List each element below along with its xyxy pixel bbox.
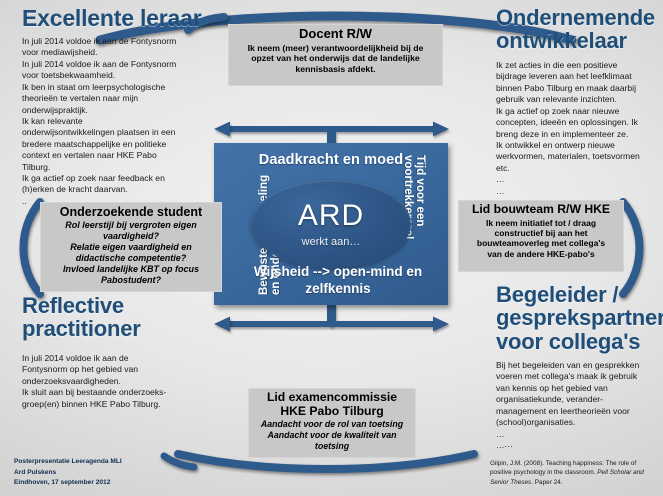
footer-line-1: Posterpresentatie Leeragenda MLI <box>14 457 122 467</box>
citation-block: Gilpin, J.M. (2008). Teaching happiness:… <box>490 459 655 487</box>
callout-line: van de andere HKE-pabo's <box>463 249 619 259</box>
body-line: voor toetsbekwaamheid. <box>22 70 198 81</box>
callout-body: Ik neem initiatief tot / draag construct… <box>463 218 619 259</box>
body-line: … <box>496 186 660 197</box>
body-line: organisatiekunde, verander- <box>496 394 662 405</box>
callout-line: Invloed landelijke KBT op focus Pabostud… <box>45 264 217 286</box>
callout-lid-examencommissie: Lid examencommissie HKE Pabo Tilburg Aan… <box>248 388 416 458</box>
body-line: bredere maatschappelijke en politieke <box>22 139 198 150</box>
callout-title: Lid examencommissie HKE Pabo Tilburg <box>253 391 411 418</box>
footer-line-2: Ard Pulskens <box>14 468 122 478</box>
body-line: (school)organisaties. <box>496 417 662 428</box>
body-line: Ik ben in staat om leerpsychologische <box>22 82 198 93</box>
callout-lid-bouwteam: Lid bouwteam R/W HKE Ik neem initiatief … <box>458 200 624 272</box>
body-line: In juli 2014 voldoe ik aan de Fontysnorm <box>22 59 198 70</box>
callout-line: Ik neem (meer) verantwoordelijkheid bij … <box>233 43 438 54</box>
callout-line: kennisbasis afdekt. <box>233 64 438 75</box>
body-line: binnen Pabo Tilburg en maak daarbij <box>496 83 660 94</box>
body-line: onderwijsontwikkelingen plaatsen in een <box>22 127 198 138</box>
body-line: Ik ontwikkel en ontwerp nieuwe <box>496 140 660 151</box>
center-bottom-label: Wijsheid --> open-mind en zelfkennis <box>240 264 436 297</box>
footer-line-3: Eindhoven, 17 september 2012 <box>14 478 122 488</box>
callout-line: Aandacht voor de rol van toetsing <box>253 419 411 430</box>
body-line: Ik kan relevante <box>22 116 198 127</box>
body-reflective-practitioner: In juli 2014 voldoe ik aan de Fontysnorm… <box>22 353 202 410</box>
arc-bottom-left-tail <box>162 452 196 470</box>
body-begeleider-gesprekspartner: Bij het begeleiden van en gesprekken voe… <box>496 360 662 451</box>
ard-ellipse: ARD werkt aan… <box>251 180 411 268</box>
body-line: Tilburg. <box>22 162 198 173</box>
body-line: onderwijspraktijk. <box>22 105 198 116</box>
arrow-bottom-left-elbow <box>212 302 334 334</box>
body-line: In juli 2014 voldoe ik aan de <box>22 353 202 364</box>
center-right-label-line1: Tijd voor een <box>414 155 426 239</box>
citation-text-2: . Paper 24. <box>531 479 562 486</box>
body-line: werkvormen, materialen, toetsvormen <box>496 151 660 162</box>
callout-line: bouwteamoverleg met collega's <box>463 238 619 248</box>
body-line: Fontysnorm op het gebied van <box>22 364 202 375</box>
body-line: theorieën te vertalen naar mijn <box>22 93 198 104</box>
body-line: Ik sluit aan bij bestaande onderzoeks- <box>22 387 202 398</box>
body-line: context en vertalen naar HKE Pabo <box>22 150 198 161</box>
body-line: groep(en) binnen HKE Pabo Tilburg. <box>22 399 202 410</box>
footer-credits: Posterpresentatie Leeragenda MLI Ard Pul… <box>14 457 122 488</box>
body-line: Ik ga actief op zoek naar feedback en <box>22 173 198 184</box>
body-line: Ik ga actief op zoek naar nieuwe <box>496 106 660 117</box>
callout-title: Onderzoekende student <box>45 205 217 219</box>
arrow-bottom-right-elbow <box>329 302 451 334</box>
callout-line: constructief bij aan het <box>463 228 619 238</box>
body-line: … <box>496 429 662 440</box>
body-line: In juli 2014 voldoe ik aan de Fontysnorm <box>22 36 198 47</box>
body-line: (h)erken de kracht daarvan. <box>22 184 198 195</box>
callout-line: Relatie eigen vaardigheid en didactische… <box>45 242 217 264</box>
callout-line: Aandacht voor de kwaliteit van toetsing <box>253 430 411 451</box>
heading-ondernemende-ontwikkelaar: Ondernemende ontwikkelaar <box>496 6 656 53</box>
body-line: van kennis op het gebied van <box>496 383 662 394</box>
callout-body: Ik neem (meer) verantwoordelijkheid bij … <box>233 43 438 75</box>
callout-body: Rol leerstijl bij vergroten eigen vaardi… <box>45 220 217 286</box>
body-line: concepten, ideeën en oplossingen. Ik <box>496 117 660 128</box>
callout-line: opzet van het onderwijs dat de landelijk… <box>233 53 438 64</box>
body-line: etc. <box>496 163 660 174</box>
body-line: onderzoeksvaardigheden. <box>22 376 202 387</box>
callout-title: Lid bouwteam R/W HKE <box>463 203 619 217</box>
body-line: voor mediawijsheid. <box>22 47 198 58</box>
citation-dots: … <box>504 440 513 450</box>
body-ondernemende-ontwikkelaar: Ik zet acties in die een positieve bijdr… <box>496 60 660 197</box>
poster-canvas: Excellente leraar In juli 2014 voldoe ik… <box>0 0 663 496</box>
heading-reflective-practitioner: Reflective practitioner <box>22 294 182 341</box>
body-line: breng deze in en implementeer ze. <box>496 129 660 140</box>
callout-onderzoekende-student: Onderzoekende student Rol leerstijl bij … <box>40 202 222 292</box>
ard-subtitle: werkt aan… <box>302 236 361 248</box>
heading-excellente-leraar: Excellente leraar <box>22 6 222 30</box>
body-line: bijdrage leveren aan het leefklimaat <box>496 71 660 82</box>
heading-begeleider-gesprekspartner: Begeleider / gesprekspartner voor colleg… <box>496 283 661 353</box>
body-line: … <box>496 174 660 185</box>
body-line: Ik zet acties in die een positieve <box>496 60 660 71</box>
body-line: Bij het begeleiden van en gesprekken <box>496 360 662 371</box>
body-line: voeren met collega's maak ik gebruik <box>496 371 662 382</box>
body-excellente-leraar: In juli 2014 voldoe ik aan de Fontysnorm… <box>22 36 198 207</box>
callout-line: Rol leerstijl bij vergroten eigen vaardi… <box>45 220 217 242</box>
callout-docent-rw: Docent R/W Ik neem (meer) verantwoordeli… <box>228 24 443 86</box>
ard-title: ARD <box>298 201 364 231</box>
body-line: gebruik van relevante inzichten. <box>496 94 660 105</box>
body-line: … <box>496 440 662 451</box>
callout-line: Ik neem initiatief tot / draag <box>463 218 619 228</box>
callout-title: Docent R/W <box>233 27 438 42</box>
central-ard-box: Daadkracht en moed Bewuste ontwikkeling … <box>214 143 448 305</box>
callout-body: Aandacht voor de rol van toetsing Aandac… <box>253 419 411 451</box>
body-line: management en leertheorieën voor <box>496 406 662 417</box>
